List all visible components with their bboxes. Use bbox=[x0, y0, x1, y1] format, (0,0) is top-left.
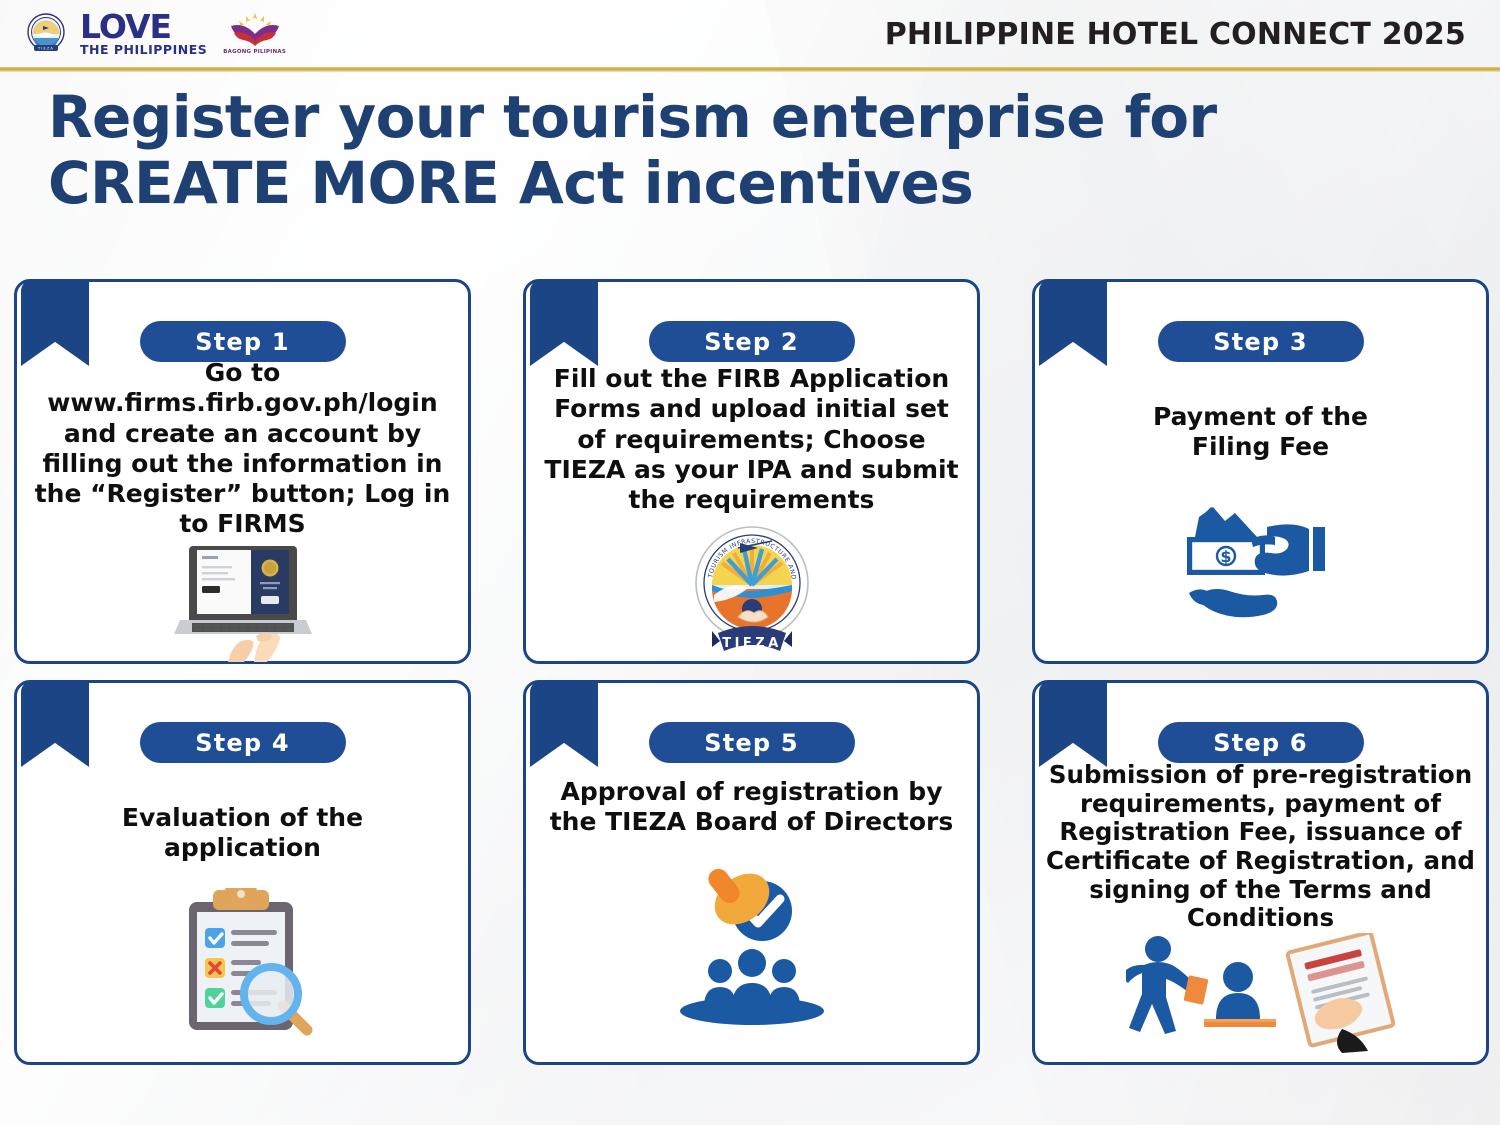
step-badge-4: Step 4 bbox=[140, 722, 346, 763]
step-card-4[interactable]: Step 4 Evaluation of the application bbox=[14, 680, 471, 1065]
svg-text:$: $ bbox=[1220, 547, 1231, 566]
gold-divider bbox=[0, 67, 1500, 72]
bookmark-ribbon-icon bbox=[21, 280, 89, 366]
event-title: PHILIPPINE HOTEL CONNECT 2025 bbox=[885, 17, 1466, 52]
step-description-6: Submission of pre-registration requireme… bbox=[1042, 761, 1479, 933]
tieza-logo-icon: TOURISM INFRASTRUCTURE AND ENTERPRISE ZO… bbox=[526, 515, 977, 663]
step-card-body-5: Approval of registration by the TIEZA Bo… bbox=[526, 777, 977, 1054]
bookmark-ribbon-icon bbox=[530, 681, 598, 767]
submission-signing-icon bbox=[1035, 933, 1486, 1054]
slide-header: TIEZA LOVE THE PHILIPPINES bbox=[0, 0, 1500, 68]
laptop-login-icon bbox=[17, 540, 468, 662]
bagong-pilipinas-logo bbox=[227, 12, 283, 48]
step-description-5: Approval of registration by the TIEZA Bo… bbox=[535, 777, 968, 838]
brand-word: LOVE bbox=[80, 12, 207, 42]
bagong-pilipinas-subtitle: BAGONG PILIPINAS bbox=[223, 49, 286, 55]
step-badge-1: Step 1 bbox=[140, 321, 346, 362]
step-card-3[interactable]: Step 3 Payment of the Filing Fee $ bbox=[1032, 279, 1489, 664]
cash-payment-hand-icon: $ bbox=[1035, 463, 1486, 654]
step-badge-label-4: Step 4 bbox=[195, 729, 289, 757]
steps-grid: Step 1 Go to www.firms.firb.gov.ph/login… bbox=[14, 279, 1488, 1065]
step-card-body-1: Go to www.firms.firb.gov.ph/login and cr… bbox=[17, 358, 468, 653]
step-card-2[interactable]: Step 2 Fill out the FIRB Application For… bbox=[523, 279, 980, 664]
page-title: Register your tourism enterprise for CRE… bbox=[48, 84, 1248, 216]
bookmark-ribbon-icon bbox=[530, 280, 598, 366]
step-card-5[interactable]: Step 5 Approval of registration by the T… bbox=[523, 680, 980, 1065]
step-badge-5: Step 5 bbox=[649, 722, 855, 763]
step-description-1: Go to www.firms.firb.gov.ph/login and cr… bbox=[26, 358, 459, 540]
step-description-2: Fill out the FIRB Application Forms and … bbox=[535, 364, 968, 515]
bookmark-ribbon-icon bbox=[21, 681, 89, 767]
slide-canvas: TIEZA LOVE THE PHILIPPINES bbox=[0, 0, 1500, 1125]
step-card-body-3: Payment of the Filing Fee $ bbox=[1035, 402, 1486, 653]
step-badge-label-2: Step 2 bbox=[704, 328, 798, 356]
step-card-body-4: Evaluation of the application bbox=[17, 803, 468, 1054]
svg-text:TIEZA: TIEZA bbox=[37, 47, 54, 51]
bagong-pilipinas-lockup: BAGONG PILIPINAS bbox=[223, 12, 286, 55]
page-title-line-1: Register your tourism enterprise for bbox=[48, 84, 1248, 150]
page-title-line-2: CREATE MORE Act incentives bbox=[48, 150, 1248, 216]
tieza-seal-icon: TIEZA bbox=[24, 12, 68, 56]
step-card-1[interactable]: Step 1 Go to www.firms.firb.gov.ph/login… bbox=[14, 279, 471, 664]
step-description-4: Evaluation of the application bbox=[58, 803, 428, 864]
approval-stamp-board-icon bbox=[526, 838, 977, 1055]
step-badge-3: Step 3 bbox=[1158, 321, 1364, 362]
step-card-body-2: Fill out the FIRB Application Forms and … bbox=[526, 364, 977, 653]
step-badge-label-5: Step 5 bbox=[704, 729, 798, 757]
brand-subtitle: THE PHILIPPINES bbox=[80, 44, 207, 57]
step-description-3: Payment of the Filing Fee bbox=[1076, 402, 1446, 463]
step-badge-label-1: Step 1 bbox=[195, 328, 289, 356]
step-badge-2: Step 2 bbox=[649, 321, 855, 362]
brand-lockup: TIEZA LOVE THE PHILIPPINES bbox=[24, 12, 286, 57]
love-the-philippines-wordmark: LOVE THE PHILIPPINES bbox=[80, 12, 207, 57]
clipboard-review-icon bbox=[17, 864, 468, 1055]
step-card-6[interactable]: Step 6 Submission of pre-registration re… bbox=[1032, 680, 1489, 1065]
step-badge-label-6: Step 6 bbox=[1213, 729, 1307, 757]
step-badge-label-3: Step 3 bbox=[1213, 328, 1307, 356]
bookmark-ribbon-icon bbox=[1039, 681, 1107, 767]
step-badge-6: Step 6 bbox=[1158, 722, 1364, 763]
step-card-body-6: Submission of pre-registration requireme… bbox=[1035, 761, 1486, 1054]
svg-text:TIEZA: TIEZA bbox=[722, 636, 782, 651]
bookmark-ribbon-icon bbox=[1039, 280, 1107, 366]
